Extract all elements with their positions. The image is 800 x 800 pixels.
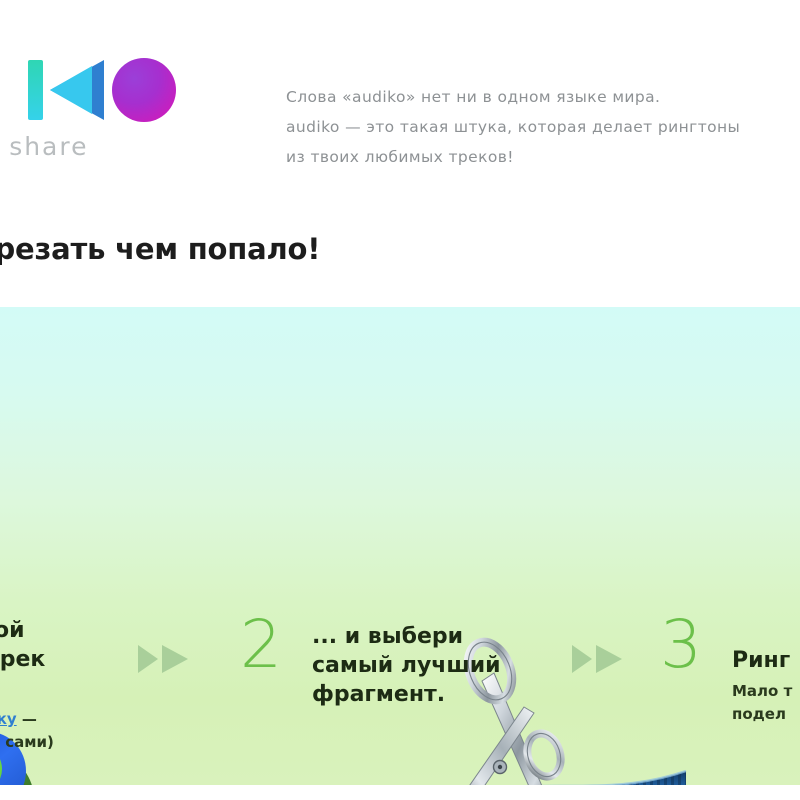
steps-row: 1 й свой ый трек нссылку — ем его сами) … — [0, 612, 800, 772]
logo-magenta-circle-icon — [112, 58, 176, 122]
intro-line-2: audiko — это такая штука, которая делает… — [286, 112, 800, 142]
step-2-text-line-3: фрагмент. — [312, 680, 501, 709]
step-1-sub-line-2: ем его сами) — [0, 731, 54, 754]
banner-right-object — [752, 777, 800, 785]
arrow-right-icon-2 — [570, 642, 626, 676]
step-1-text-line-1: й свой — [0, 616, 45, 645]
step-2-number: 2 — [240, 612, 282, 678]
step-1-link[interactable]: ссылку — [0, 710, 17, 728]
intro-paragraph: Слова «audiko» нет ни в одном языке мира… — [286, 82, 800, 172]
step-3-subtext: Мало т подел — [732, 680, 792, 726]
logo-cyan-triangle-icon — [50, 66, 92, 114]
step-3-sub-line-2: подел — [732, 703, 792, 726]
step-3-sub-line-1: Мало т — [732, 680, 792, 703]
logo-mark — [0, 52, 174, 128]
step-1-text: й свой ый трек — [0, 616, 45, 674]
step-1-sub-after: — — [17, 710, 37, 728]
intro-line-3: из твоих любимых треков! — [286, 142, 800, 172]
page-root: t & share Слова «audiko» нет ни в одном … — [0, 0, 800, 800]
page-header: t & share Слова «audiko» нет ни в одном … — [0, 0, 800, 307]
logo-tagline: t & share — [0, 132, 89, 161]
step-2-text: ... и выбери самый лучший фрагмент. — [312, 622, 501, 709]
step-3-text: Ринг — [732, 646, 790, 675]
arrow-right-icon-1 — [136, 642, 192, 676]
step-2-text-line-1: ... и выбери — [312, 622, 501, 651]
intro-line-1: Слова «audiko» нет ни в одном языке мира… — [286, 82, 800, 112]
step-1-text-line-2: ый трек — [0, 645, 45, 674]
logo-cyan-bar-icon — [28, 60, 43, 120]
step-2-text-line-2: самый лучший — [312, 651, 501, 680]
tape-shadow-icon — [168, 783, 688, 785]
step-1-sub-line-1: нссылку — — [0, 708, 54, 731]
step-1-subtext: нссылку — ем его сами) — [0, 708, 54, 754]
step-3-number: 3 — [660, 612, 702, 678]
section-heading: ...резать чем попало! — [0, 232, 320, 266]
site-logo[interactable]: t & share — [0, 52, 174, 172]
